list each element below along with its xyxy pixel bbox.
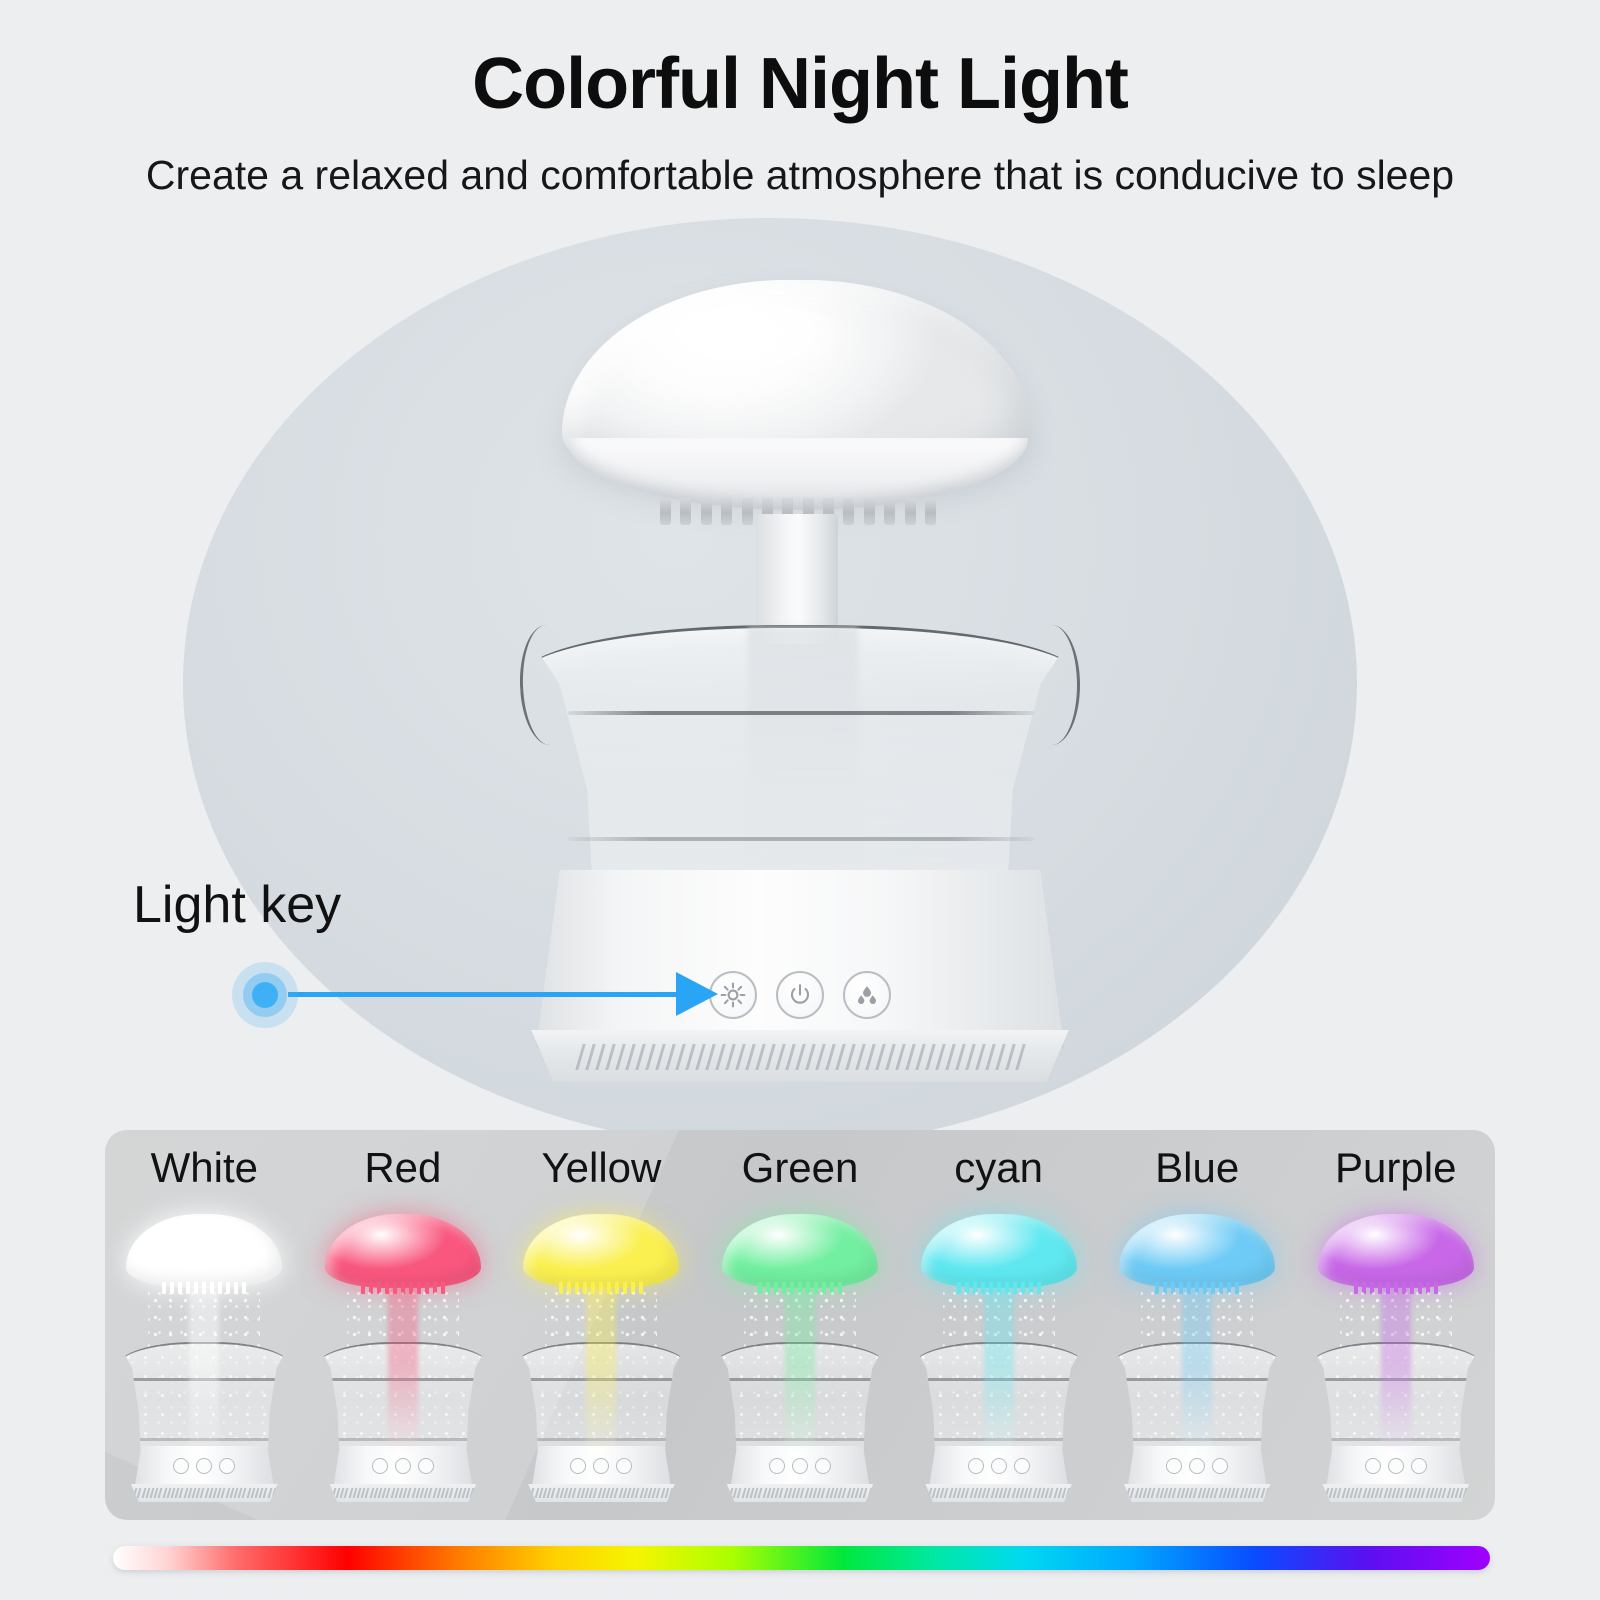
mini-product-unit bbox=[1101, 1214, 1293, 1506]
mini-product-unit bbox=[505, 1214, 697, 1506]
mist-icon bbox=[853, 981, 881, 1009]
callout-marker-dot bbox=[232, 962, 298, 1028]
mini-control-buttons bbox=[769, 1458, 831, 1474]
mini-product-unit bbox=[704, 1214, 896, 1506]
mini-mushroom-cap bbox=[921, 1214, 1077, 1288]
power-icon bbox=[786, 981, 814, 1009]
mini-control-buttons bbox=[173, 1458, 235, 1474]
water-tank bbox=[520, 625, 1080, 890]
mini-mist-column bbox=[984, 1286, 1014, 1454]
color-swatch: Red bbox=[304, 1130, 503, 1520]
vent-slots bbox=[520, 1044, 1080, 1078]
color-swatch: Blue bbox=[1098, 1130, 1297, 1520]
rgb-spectrum-bar bbox=[113, 1546, 1490, 1570]
color-swatch: cyan bbox=[899, 1130, 1098, 1520]
color-swatch: Yellow bbox=[502, 1130, 701, 1520]
mini-mushroom-cap bbox=[722, 1214, 878, 1288]
mini-mushroom-cap bbox=[126, 1214, 282, 1288]
page-subtitle: Create a relaxed and comfortable atmosph… bbox=[0, 152, 1600, 199]
mini-product-unit bbox=[903, 1214, 1095, 1506]
color-swatch-label: Green bbox=[701, 1144, 900, 1192]
mini-vent-lip bbox=[1119, 1484, 1275, 1502]
callout-arrow-icon bbox=[676, 972, 718, 1016]
mini-control-buttons bbox=[968, 1458, 1030, 1474]
mini-control-buttons bbox=[570, 1458, 632, 1474]
power-button[interactable] bbox=[776, 971, 824, 1019]
color-swatch: White bbox=[105, 1130, 304, 1520]
sun-icon bbox=[719, 981, 747, 1009]
callout-label: Light key bbox=[133, 875, 341, 935]
base-vent-lip bbox=[520, 1030, 1080, 1082]
color-swatch-label: Purple bbox=[1296, 1144, 1495, 1192]
mist-button[interactable] bbox=[843, 971, 891, 1019]
mini-mist-column bbox=[1381, 1286, 1411, 1454]
mini-mushroom-cap bbox=[325, 1214, 481, 1288]
mini-mushroom-cap bbox=[1119, 1214, 1275, 1288]
mini-mushroom-cap bbox=[523, 1214, 679, 1288]
color-swatch-label: cyan bbox=[899, 1144, 1098, 1192]
hero-product-image bbox=[500, 270, 1100, 1100]
device-base bbox=[536, 870, 1064, 1048]
tank-seam-line bbox=[568, 837, 1034, 841]
mini-control-buttons bbox=[372, 1458, 434, 1474]
mini-vent-lip bbox=[1318, 1484, 1474, 1502]
mini-mist-column bbox=[189, 1286, 219, 1454]
cap-highlight bbox=[650, 300, 860, 392]
color-swatch-label: White bbox=[105, 1144, 304, 1192]
color-swatch: Purple bbox=[1296, 1130, 1495, 1520]
color-swatch-label: Red bbox=[304, 1144, 503, 1192]
mini-mist-column bbox=[1182, 1286, 1212, 1454]
water-level-line bbox=[568, 711, 1034, 715]
mini-vent-lip bbox=[325, 1484, 481, 1502]
color-swatch-label: Blue bbox=[1098, 1144, 1297, 1192]
mist-column bbox=[748, 627, 858, 887]
mini-vent-lip bbox=[126, 1484, 282, 1502]
page-title: Colorful Night Light bbox=[0, 48, 1600, 120]
color-swatch: Green bbox=[701, 1130, 900, 1520]
callout-leader-line bbox=[288, 992, 683, 997]
mini-vent-lip bbox=[523, 1484, 679, 1502]
mini-mist-column bbox=[586, 1286, 616, 1454]
mini-vent-lip bbox=[722, 1484, 878, 1502]
control-button-row bbox=[709, 970, 891, 1020]
mini-product-unit bbox=[307, 1214, 499, 1506]
color-swatch-row: WhiteRedYellowGreencyanBluePurple bbox=[105, 1130, 1495, 1520]
mini-vent-lip bbox=[921, 1484, 1077, 1502]
color-swatch-panel: WhiteRedYellowGreencyanBluePurple bbox=[105, 1130, 1495, 1520]
mini-product-unit bbox=[108, 1214, 300, 1506]
mini-product-unit bbox=[1300, 1214, 1492, 1506]
mini-control-buttons bbox=[1365, 1458, 1427, 1474]
color-swatch-label: Yellow bbox=[502, 1144, 701, 1192]
mini-mushroom-cap bbox=[1318, 1214, 1474, 1288]
mini-mist-column bbox=[388, 1286, 418, 1454]
mini-mist-column bbox=[785, 1286, 815, 1454]
mini-control-buttons bbox=[1166, 1458, 1228, 1474]
